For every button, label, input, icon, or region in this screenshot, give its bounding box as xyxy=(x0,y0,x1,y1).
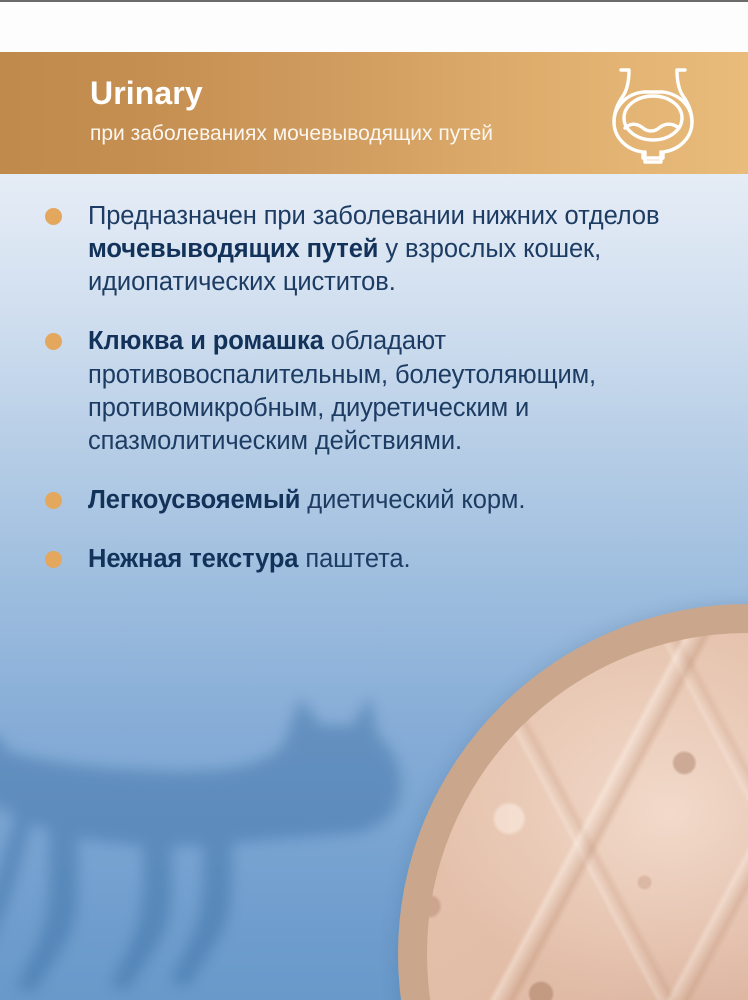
bullet-dot-icon xyxy=(45,492,62,509)
page-subtitle: при заболеваниях мочевыводящих путей xyxy=(90,123,493,144)
list-item: Предназначен при заболевании нижних отде… xyxy=(45,200,685,299)
benefits-list: Предназначен при заболевании нижних отде… xyxy=(45,200,685,576)
list-item: Легкоусвояемый диетический корм. xyxy=(45,484,685,517)
top-divider xyxy=(0,0,748,2)
list-item-text: Легкоусвояемый диетический корм. xyxy=(88,484,685,517)
bladder-icon xyxy=(601,62,705,164)
list-item: Нежная текстура паштета. xyxy=(45,543,685,576)
bullet-dot-icon xyxy=(45,551,62,568)
list-item-text: Клюква и ромашка обладают противовоспали… xyxy=(88,325,685,458)
header-banner: Urinary при заболеваниях мочевыводящих п… xyxy=(0,52,748,174)
bullet-dot-icon xyxy=(45,208,62,225)
list-item: Клюква и ромашка обладают противовоспали… xyxy=(45,325,685,458)
list-item-text: Предназначен при заболевании нижних отде… xyxy=(88,200,685,299)
page-title: Urinary xyxy=(90,77,203,109)
promo-slide: Urinary при заболеваниях мочевыводящих п… xyxy=(0,0,748,1000)
pate-surface xyxy=(427,633,748,1000)
bullet-dot-icon xyxy=(45,333,62,350)
top-white-strip xyxy=(0,2,748,52)
list-item-text: Нежная текстура паштета. xyxy=(88,543,685,576)
product-can-image xyxy=(398,604,748,1000)
